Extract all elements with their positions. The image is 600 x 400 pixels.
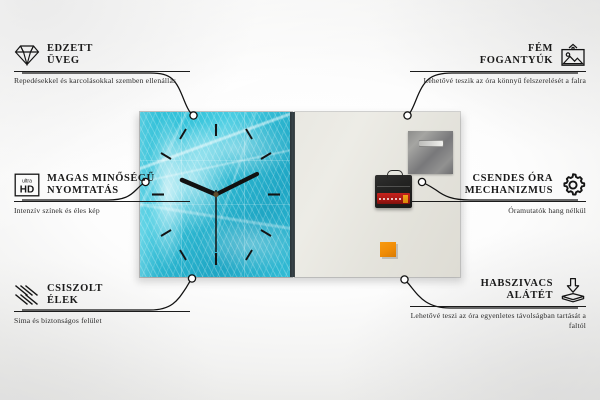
battery-label	[379, 198, 401, 200]
feature-subtitle: Óramutatók hang nélkül	[410, 206, 586, 216]
feature-title: MAGAS MINŐSÉGŰNYOMTATÁS	[47, 173, 155, 198]
feature-title: CSISZOLTÉLEK	[47, 283, 103, 308]
foam-pad	[380, 242, 396, 257]
feature-divider	[14, 71, 190, 72]
feature-silent-mechanism[interactable]: CSENDES ÓRAMECHANIZMUS Óramutatók hang n…	[410, 172, 586, 216]
feature-divider	[410, 201, 586, 202]
feature-divider	[410, 306, 586, 307]
polished-edges-icon	[14, 282, 40, 308]
battery-terminal	[403, 195, 408, 203]
feature-divider	[14, 201, 190, 202]
feature-foam-backing[interactable]: HABSZIVACSALÁTÉT Lehetővé teszi az óra e…	[410, 277, 586, 331]
foam-pad-icon	[560, 277, 586, 303]
infographic-canvas: EDZETTÜVEG Repedésekkel és karcolásokkal…	[0, 0, 600, 400]
feature-high-quality-print[interactable]: ultra HD MAGAS MINŐSÉGŰNYOMTATÁS Intenzí…	[14, 172, 190, 216]
metal-hanger	[408, 131, 453, 174]
battery	[377, 193, 410, 204]
feature-subtitle: Sima és biztonságos felület	[14, 316, 190, 326]
feature-title: EDZETTÜVEG	[47, 43, 93, 68]
diamond-icon	[14, 42, 40, 68]
feature-title: CSENDES ÓRAMECHANIZMUS	[465, 173, 553, 198]
picture-hanger-icon	[560, 42, 586, 68]
feature-title: HABSZIVACSALÁTÉT	[481, 278, 553, 303]
feature-divider	[14, 311, 190, 312]
feature-title: FÉMFOGANTYÚK	[480, 43, 553, 68]
ultra-hd-icon: ultra HD	[14, 172, 40, 198]
feature-subtitle: Intenzív színek és éles kép	[14, 206, 190, 216]
feature-subtitle: Repedésekkel és karcolásokkal szemben el…	[14, 76, 190, 86]
feature-divider	[410, 71, 586, 72]
feature-tempered-glass[interactable]: EDZETTÜVEG Repedésekkel és karcolásokkal…	[14, 42, 190, 86]
feature-metal-handles[interactable]: FÉMFOGANTYÚK Lehetővé teszik az óra könn…	[410, 42, 586, 86]
feature-subtitle: Lehetővé teszi az óra egyenletes távolsá…	[410, 311, 586, 331]
svg-text:HD: HD	[20, 185, 34, 196]
minute-hand	[216, 174, 257, 195]
movement-seam	[377, 186, 410, 187]
gear-icon	[560, 172, 586, 198]
clock-center-cap	[213, 192, 218, 197]
feature-subtitle: Lehetővé teszik az óra könnyű felszerelé…	[410, 76, 586, 86]
feature-polished-edges[interactable]: CSISZOLTÉLEK Sima és biztonságos felület	[14, 282, 190, 326]
movement-hook	[387, 170, 403, 178]
hanger-keyhole-slot	[418, 140, 444, 147]
quartz-movement	[375, 175, 412, 208]
